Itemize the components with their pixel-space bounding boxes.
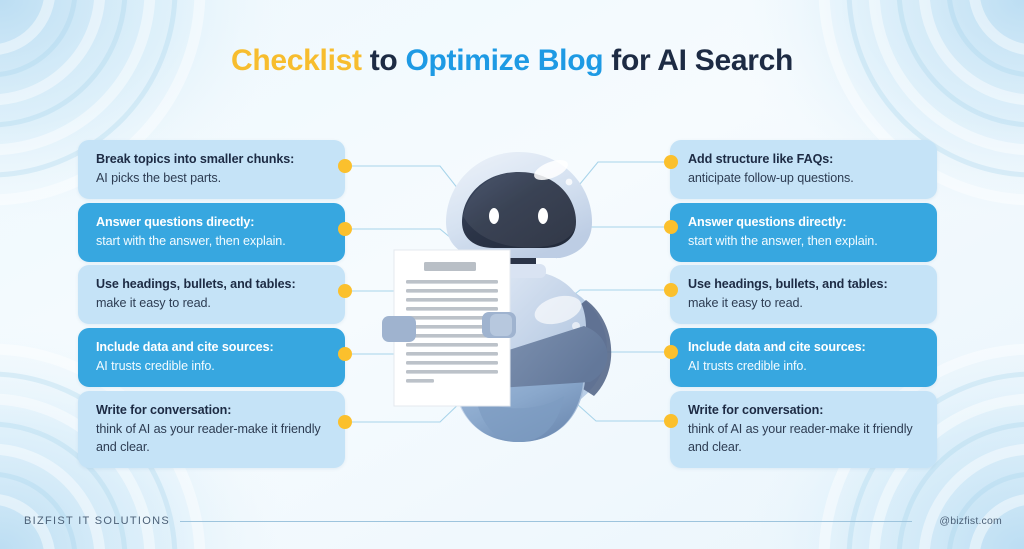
connector-dot-left-3 (338, 284, 352, 298)
connector-dot-left-2 (338, 222, 352, 236)
ai-robot-illustration (380, 130, 650, 460)
connector-dot-right-2 (664, 220, 678, 234)
connector-dot-right-3 (664, 283, 678, 297)
connector-dot-left-4 (338, 347, 352, 361)
connector-dot-left-1 (338, 159, 352, 173)
connector-dot-right-4 (664, 345, 678, 359)
connector-dot-right-5 (664, 414, 678, 428)
connector-dot-right-1 (664, 155, 678, 169)
connector-dot-left-5 (338, 415, 352, 429)
